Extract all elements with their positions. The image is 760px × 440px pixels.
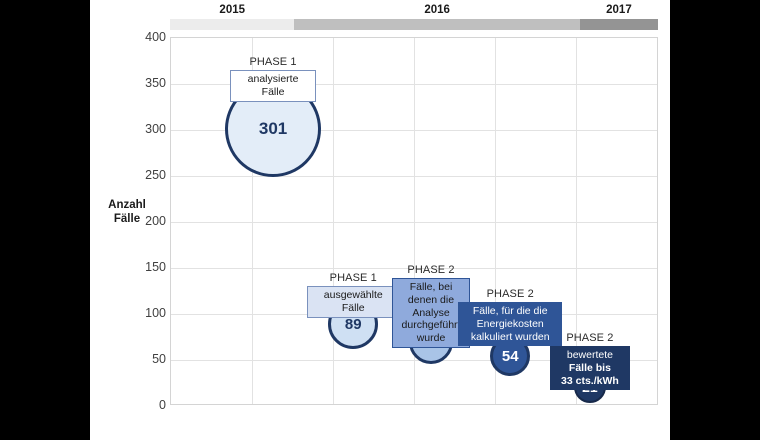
y-axis-ticks: 400350300250200150100500 [112,37,166,405]
timeline-label-2015: 2015 [170,4,294,16]
callout-phase-label: PHASE 1 [307,272,399,284]
callout-phase-label: PHASE 1 [230,56,316,68]
y-axis-tick-200: 200 [118,214,166,228]
callout-phase-label: PHASE 2 [392,264,470,276]
y-axis-tick-400: 400 [118,30,166,44]
timeline-segment-2017 [580,19,658,30]
y-axis-tick-50: 50 [118,352,166,366]
callout-text-box: bewerteteFälle bis33 cts./kWh [550,346,630,390]
timeline-segment-2015 [170,19,294,30]
chart-canvas: 201520162017 Anzahl Fälle 40035030025020… [90,0,670,440]
vertical-gridline [333,38,334,404]
plot-area: 30189705421PHASE 1analysierte FällePHASE… [170,37,658,405]
callout-text-box: analysierte Fälle [230,70,316,102]
chart-screenshot: 201520162017 Anzahl Fälle 40035030025020… [0,0,760,440]
y-axis-tick-150: 150 [118,260,166,274]
callout-1[interactable]: PHASE 1analysierte Fälle [230,56,316,102]
callout-text-line-1: bewertete [556,349,624,362]
timeline-label-2017: 2017 [580,4,658,16]
timeline-label-2016: 2016 [294,4,579,16]
callout-phase-label: PHASE 2 [550,332,630,344]
callout-phase-label: PHASE 2 [458,288,562,300]
callout-text-box: ausgewählte Fälle [307,286,399,318]
timeline-bar [170,19,658,30]
callout-5[interactable]: PHASE 2bewerteteFälle bis33 cts./kWh [550,332,630,390]
callout-2[interactable]: PHASE 1ausgewählte Fälle [307,272,399,318]
timeline-year-labels: 201520162017 [170,4,658,20]
callout-text-line-3: 33 cts./kWh [556,375,624,388]
callout-text-box: Fälle, für die die Energiekosten kalkuli… [458,302,562,346]
callout-text-line-2: Fälle bis [556,362,624,375]
y-axis-tick-250: 250 [118,168,166,182]
y-axis-tick-350: 350 [118,76,166,90]
y-axis-tick-300: 300 [118,122,166,136]
timeline-segment-2016 [294,19,579,30]
y-axis-tick-100: 100 [118,306,166,320]
callout-4[interactable]: PHASE 2Fälle, für die die Energiekosten … [458,288,562,346]
y-axis-tick-0: 0 [118,398,166,412]
